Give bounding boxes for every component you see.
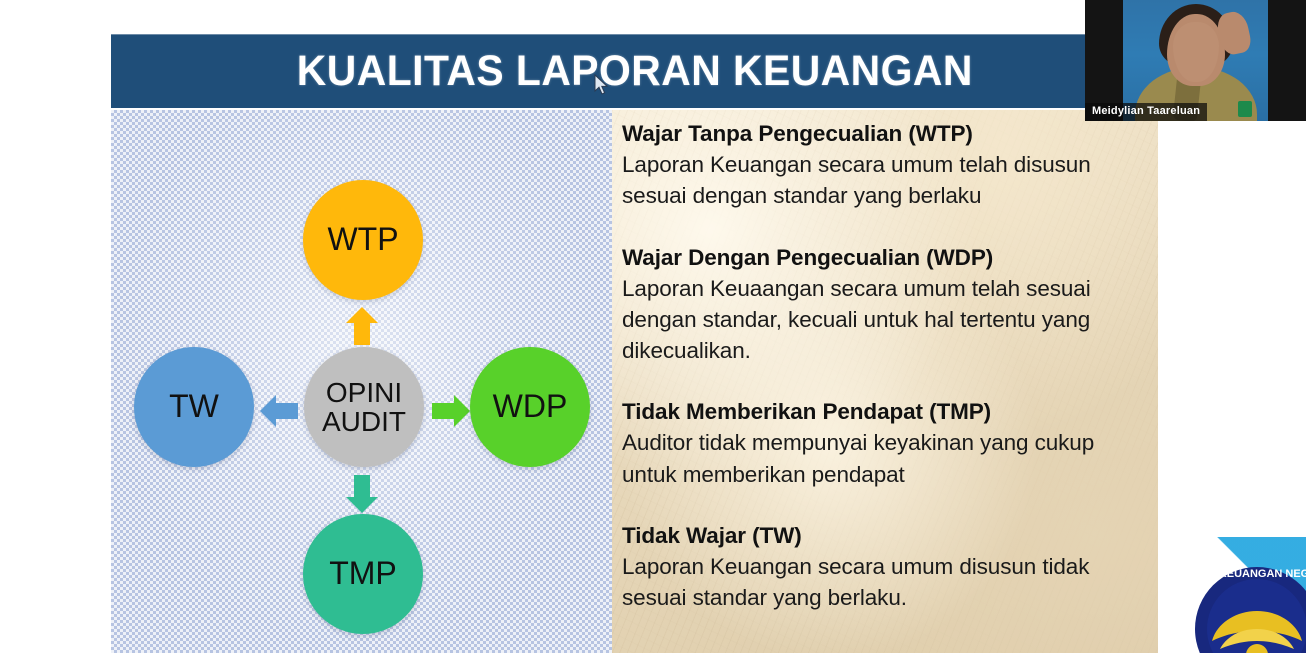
definition-block-tmp: Tidak Memberikan Pendapat (TMP) Auditor … bbox=[622, 396, 1158, 490]
definition-body-wdp: Laporan Keuaangan secara umum telah sesu… bbox=[622, 273, 1142, 367]
definitions-panel: Wajar Tanpa Pengecualian (WTP) Laporan K… bbox=[612, 110, 1158, 653]
diagram-node-wdp-label: WDP bbox=[493, 390, 568, 424]
diagram-node-wtp-label: WTP bbox=[327, 223, 398, 257]
opini-audit-label-line1: OPINI bbox=[322, 378, 406, 407]
definition-body-tmp: Auditor tidak mempunyai keyakinan yang c… bbox=[622, 427, 1142, 490]
arrow-left-icon bbox=[259, 393, 299, 434]
arrow-right-icon bbox=[431, 393, 471, 434]
diagram-node-wtp[interactable]: WTP bbox=[303, 180, 423, 300]
definition-block-wdp: Wajar Dengan Pengecualian (WDP) Laporan … bbox=[622, 242, 1158, 367]
definition-heading-wtp: Wajar Tanpa Pengecualian (WTP) bbox=[622, 118, 1158, 149]
diagram-node-tmp[interactable]: TMP bbox=[303, 514, 423, 634]
definition-block-wtp: Wajar Tanpa Pengecualian (WTP) Laporan K… bbox=[622, 118, 1158, 212]
screen-root: KUALITAS LAPORAN KEUANGAN bbox=[0, 0, 1306, 653]
opini-audit-label-line2: AUDIT bbox=[322, 407, 406, 436]
webcam-tile[interactable]: Meidylian Taareluan bbox=[1085, 0, 1306, 121]
webcam-participant-name: Meidylian Taareluan bbox=[1085, 103, 1207, 121]
definition-heading-tw: Tidak Wajar (TW) bbox=[622, 520, 1158, 551]
definition-block-tw: Tidak Wajar (TW) Laporan Keuangan secara… bbox=[622, 520, 1158, 614]
page-title: KUALITAS LAPORAN KEUANGAN bbox=[296, 47, 972, 96]
diagram-node-tw-label: TW bbox=[169, 390, 219, 424]
definition-body-wtp: Laporan Keuangan secara umum telah disus… bbox=[622, 149, 1142, 212]
arrow-up-icon bbox=[344, 306, 380, 351]
diagram-node-opini-audit[interactable]: OPINI AUDIT bbox=[304, 347, 424, 467]
definition-heading-wdp: Wajar Dengan Pengecualian (WDP) bbox=[622, 242, 1158, 273]
definition-body-tw: Laporan Keuangan secara umum disusun tid… bbox=[622, 551, 1142, 614]
diagram-node-tmp-label: TMP bbox=[329, 557, 397, 591]
bpk-logo: IK KEUANGAN NEG bbox=[1182, 537, 1306, 653]
slide-title-banner: KUALITAS LAPORAN KEUANGAN bbox=[111, 34, 1158, 108]
logo-ring-text: IK KEUANGAN NEG bbox=[1205, 568, 1306, 580]
diagram-node-tw[interactable]: TW bbox=[134, 347, 254, 467]
arrow-down-icon bbox=[344, 474, 380, 519]
definition-heading-tmp: Tidak Memberikan Pendapat (TMP) bbox=[622, 396, 1158, 427]
diagram-node-wdp[interactable]: WDP bbox=[470, 347, 590, 467]
opini-audit-diagram: WTP WDP TW TMP OPINI AUDIT bbox=[111, 110, 612, 653]
webcam-person-badge bbox=[1238, 101, 1252, 117]
